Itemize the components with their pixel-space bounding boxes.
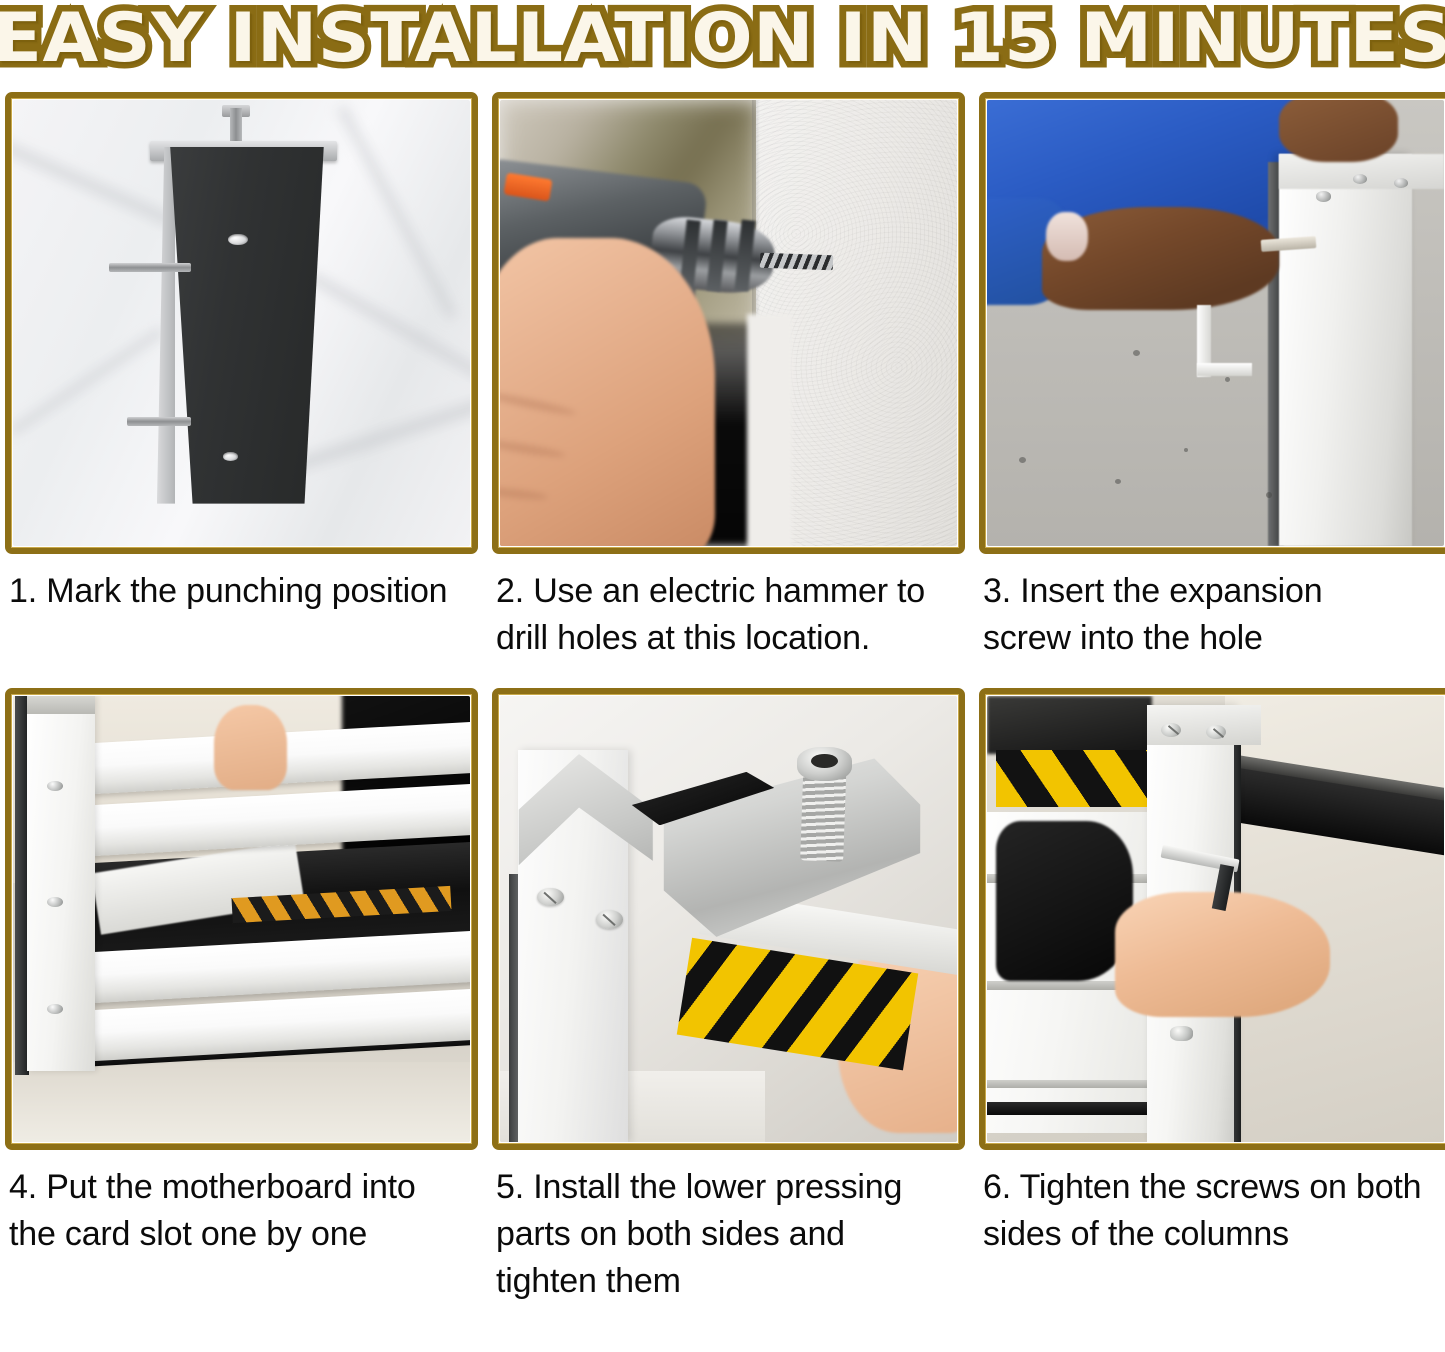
column-top-face (27, 696, 96, 714)
step-4-caption: 4. Put the motherboard into the card slo… (5, 1150, 478, 1258)
floor-surface (13, 1062, 470, 1142)
operator-hand (500, 238, 715, 546)
operator-hand (214, 705, 287, 790)
step-5-photo (500, 696, 957, 1142)
wall-lower-mask (747, 314, 793, 546)
operator-hand (1115, 892, 1330, 1017)
backdrop-fold (308, 271, 470, 386)
shirt-cuff (1046, 212, 1087, 261)
step-4-photo-frame (5, 688, 478, 1150)
backdrop-fold (337, 105, 457, 320)
marking-template-post (164, 147, 324, 504)
step-card-5: 5. Install the lower pressing parts on b… (492, 688, 965, 1305)
step-5-caption: 5. Install the lower pressing parts on b… (492, 1150, 965, 1305)
step-card-4: 4. Put the motherboard into the card slo… (5, 688, 478, 1258)
expansion-screw (1353, 174, 1368, 184)
step-1-caption: 1. Mark the punching position (5, 554, 478, 615)
page-title: EASY INSTALLATION IN 15 MINUTES (0, 2, 1445, 76)
expansion-screw (1316, 191, 1331, 201)
allen-key-arm (1197, 363, 1252, 375)
worker-upper-hand (1279, 100, 1398, 162)
step-5-photo-frame (492, 688, 965, 1150)
steps-row-top: 1. Mark the punching position (5, 92, 1440, 662)
step-3-photo-frame (979, 92, 1445, 554)
step-2-photo-frame (492, 92, 965, 554)
step-2-caption: 2. Use an electric hammer to drill holes… (492, 554, 965, 662)
step-card-1: 1. Mark the punching position (5, 92, 478, 615)
step-6-caption: 6. Tighten the screws on both sides of t… (979, 1150, 1445, 1258)
floor-speck (1225, 377, 1230, 382)
step-2-photo (500, 100, 957, 546)
floor-speck (1115, 479, 1121, 484)
column-screw (47, 781, 63, 791)
floor-speck (1133, 350, 1140, 356)
black-sleeve (996, 821, 1133, 982)
step-card-3: 3. Insert the expansion screw into the h… (979, 92, 1445, 662)
header-banner: EASY INSTALLATION IN 15 MINUTES (0, 0, 1445, 92)
step-1-photo-frame (5, 92, 478, 554)
column-side-screw (1170, 1026, 1193, 1041)
marking-pin (127, 417, 191, 426)
steps-row-bottom: 4. Put the motherboard into the card slo… (5, 688, 1440, 1305)
step-6-photo-frame (979, 688, 1445, 1150)
floor-speck (1184, 448, 1188, 452)
step-card-6: 6. Tighten the screws on both sides of t… (979, 688, 1445, 1258)
marking-pin (109, 263, 191, 272)
column-screw (47, 1004, 63, 1014)
step-6-photo (987, 696, 1444, 1142)
step-3-caption: 3. Insert the expansion screw into the h… (979, 554, 1445, 662)
step-4-photo (13, 696, 470, 1142)
marking-hole (223, 452, 238, 460)
floor-speck (1019, 457, 1026, 463)
row-spacer (5, 662, 1440, 688)
finger-crease (500, 437, 565, 459)
masonry-drill-bit (760, 253, 834, 271)
aluminium-column (27, 696, 96, 1071)
step-1-photo (13, 100, 470, 546)
base-rail (987, 1102, 1152, 1115)
column-screw (47, 897, 63, 907)
installation-steps-grid: 1. Mark the punching position (0, 92, 1445, 1305)
column-side-edge (157, 147, 175, 504)
aluminium-column (1279, 154, 1412, 546)
step-card-2: 2. Use an electric hammer to drill holes… (492, 92, 965, 662)
dark-background-region (987, 696, 1152, 754)
panel-seam (987, 1080, 1152, 1089)
finger-crease (500, 389, 577, 418)
finger-crease (500, 485, 549, 501)
hazard-stripe-tape (996, 750, 1147, 808)
step-3-photo (987, 100, 1444, 546)
